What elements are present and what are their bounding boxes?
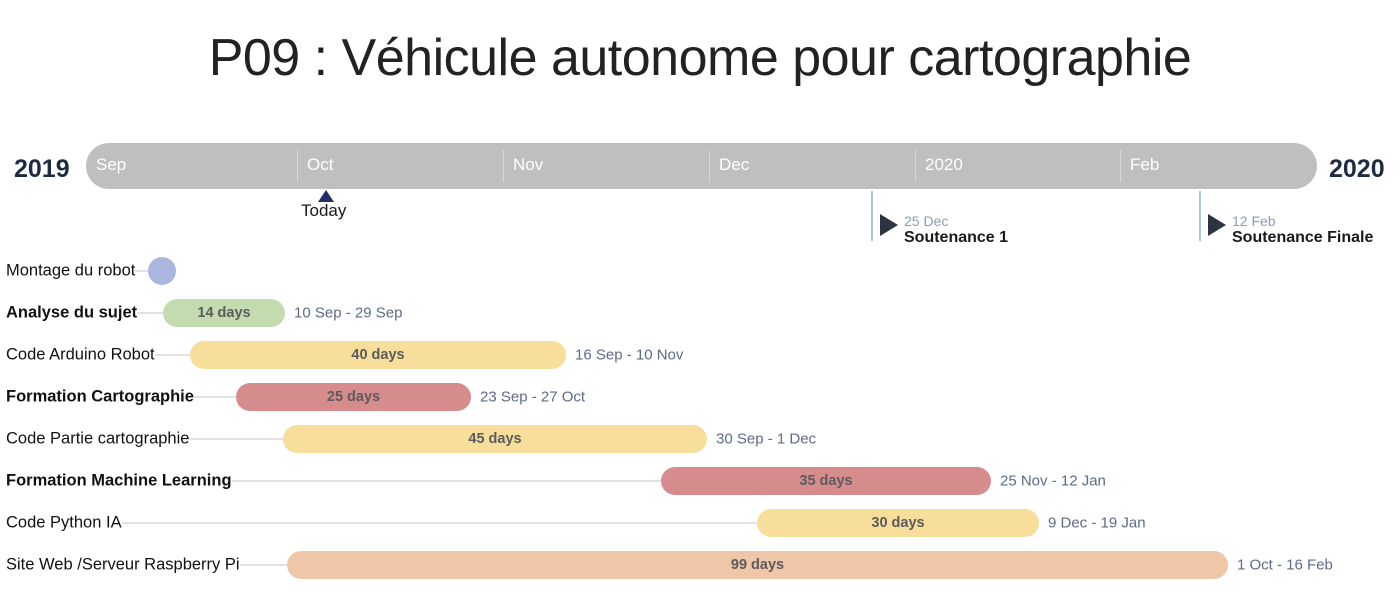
task-duration-label: 30 days — [871, 515, 924, 531]
task-duration-label: 14 days — [197, 305, 250, 321]
task-bar[interactable]: 40 days — [190, 341, 566, 369]
month-label-nov: Nov — [513, 155, 543, 175]
task-bar[interactable]: 35 days — [661, 467, 991, 495]
task-leader-line — [194, 397, 236, 398]
today-marker: Today — [0, 190, 1400, 222]
milestone-date: 12 Feb — [1232, 213, 1276, 229]
task-row[interactable]: Analyse du sujet14 days10 Sep - 29 Sep — [0, 292, 1400, 334]
month-divider-oct — [297, 150, 298, 182]
milestone-triangle-icon — [880, 214, 898, 236]
task-row[interactable]: Formation Machine Learning35 days25 Nov … — [0, 460, 1400, 502]
month-divider-dec — [709, 150, 710, 182]
task-label: Analyse du sujet — [6, 304, 137, 323]
task-row[interactable]: Formation Cartographie25 days23 Sep - 27… — [0, 376, 1400, 418]
task-duration-label: 45 days — [468, 431, 521, 447]
task-label: Formation Machine Learning — [6, 472, 232, 491]
task-duration-label: 25 days — [327, 389, 380, 405]
month-divider-nov — [503, 150, 504, 182]
timeline-header: 2019 2020 SepOctNovDec2020Feb — [0, 143, 1400, 191]
task-bar[interactable]: 30 days — [757, 509, 1039, 537]
task-date-range: 16 Sep - 10 Nov — [575, 347, 683, 364]
task-duration-label: 40 days — [351, 347, 404, 363]
task-row[interactable]: Montage du robot — [0, 250, 1400, 292]
task-bar[interactable]: 25 days — [236, 383, 471, 411]
task-leader-line — [155, 355, 190, 356]
today-label: Today — [301, 201, 346, 221]
task-date-range: 30 Sep - 1 Dec — [716, 431, 816, 448]
task-label: Code Python IA — [6, 514, 122, 533]
task-label: Formation Cartographie — [6, 388, 194, 407]
task-label: Site Web /Serveur Raspberry Pi — [6, 556, 240, 575]
page-title: P09 : Véhicule autonome pour cartographi… — [0, 28, 1400, 88]
month-label-oct: Oct — [307, 155, 333, 175]
milestone-line — [871, 191, 873, 241]
timeline-bar[interactable]: SepOctNovDec2020Feb — [86, 143, 1317, 189]
milestone-triangle-icon — [1208, 214, 1226, 236]
milestone-date: 25 Dec — [904, 213, 948, 229]
task-date-range: 25 Nov - 12 Jan — [1000, 473, 1106, 490]
task-duration-label: 35 days — [799, 473, 852, 489]
task-label: Montage du robot — [6, 262, 135, 281]
task-row[interactable]: Site Web /Serveur Raspberry Pi99 days1 O… — [0, 544, 1400, 586]
task-label: Code Partie cartographie — [6, 430, 189, 449]
month-divider-feb — [1120, 150, 1121, 182]
task-bar[interactable]: 99 days — [287, 551, 1228, 579]
task-date-range: 1 Oct - 16 Feb — [1237, 557, 1333, 574]
task-bar[interactable]: 45 days — [283, 425, 707, 453]
milestone-line — [1199, 191, 1201, 241]
task-date-range: 9 Dec - 19 Jan — [1048, 515, 1146, 532]
timeline-year-end: 2020 — [1329, 155, 1385, 184]
task-leader-line — [137, 313, 163, 314]
task-leader-line — [189, 439, 283, 440]
month-label-feb: Feb — [1130, 155, 1159, 175]
milestone-name: Soutenance Finale — [1232, 229, 1373, 247]
task-leader-line — [135, 271, 148, 272]
task-row[interactable]: Code Arduino Robot40 days16 Sep - 10 Nov — [0, 334, 1400, 376]
task-row[interactable]: Code Python IA30 days9 Dec - 19 Jan — [0, 502, 1400, 544]
task-marker[interactable] — [148, 257, 176, 285]
task-row[interactable]: Code Partie cartographie45 days30 Sep - … — [0, 418, 1400, 460]
month-label-sep: Sep — [96, 155, 126, 175]
month-label-2020: 2020 — [925, 155, 963, 175]
task-date-range: 10 Sep - 29 Sep — [294, 305, 402, 322]
task-duration-label: 99 days — [731, 557, 784, 573]
task-leader-line — [240, 565, 287, 566]
task-date-range: 23 Sep - 27 Oct — [480, 389, 585, 406]
milestone-name: Soutenance 1 — [904, 229, 1008, 247]
task-bar[interactable]: 14 days — [163, 299, 285, 327]
month-label-dec: Dec — [719, 155, 749, 175]
task-leader-line — [122, 523, 757, 524]
timeline-year-start: 2019 — [14, 155, 70, 184]
task-leader-line — [232, 481, 661, 482]
month-divider-2020 — [915, 150, 916, 182]
task-label: Code Arduino Robot — [6, 346, 155, 365]
